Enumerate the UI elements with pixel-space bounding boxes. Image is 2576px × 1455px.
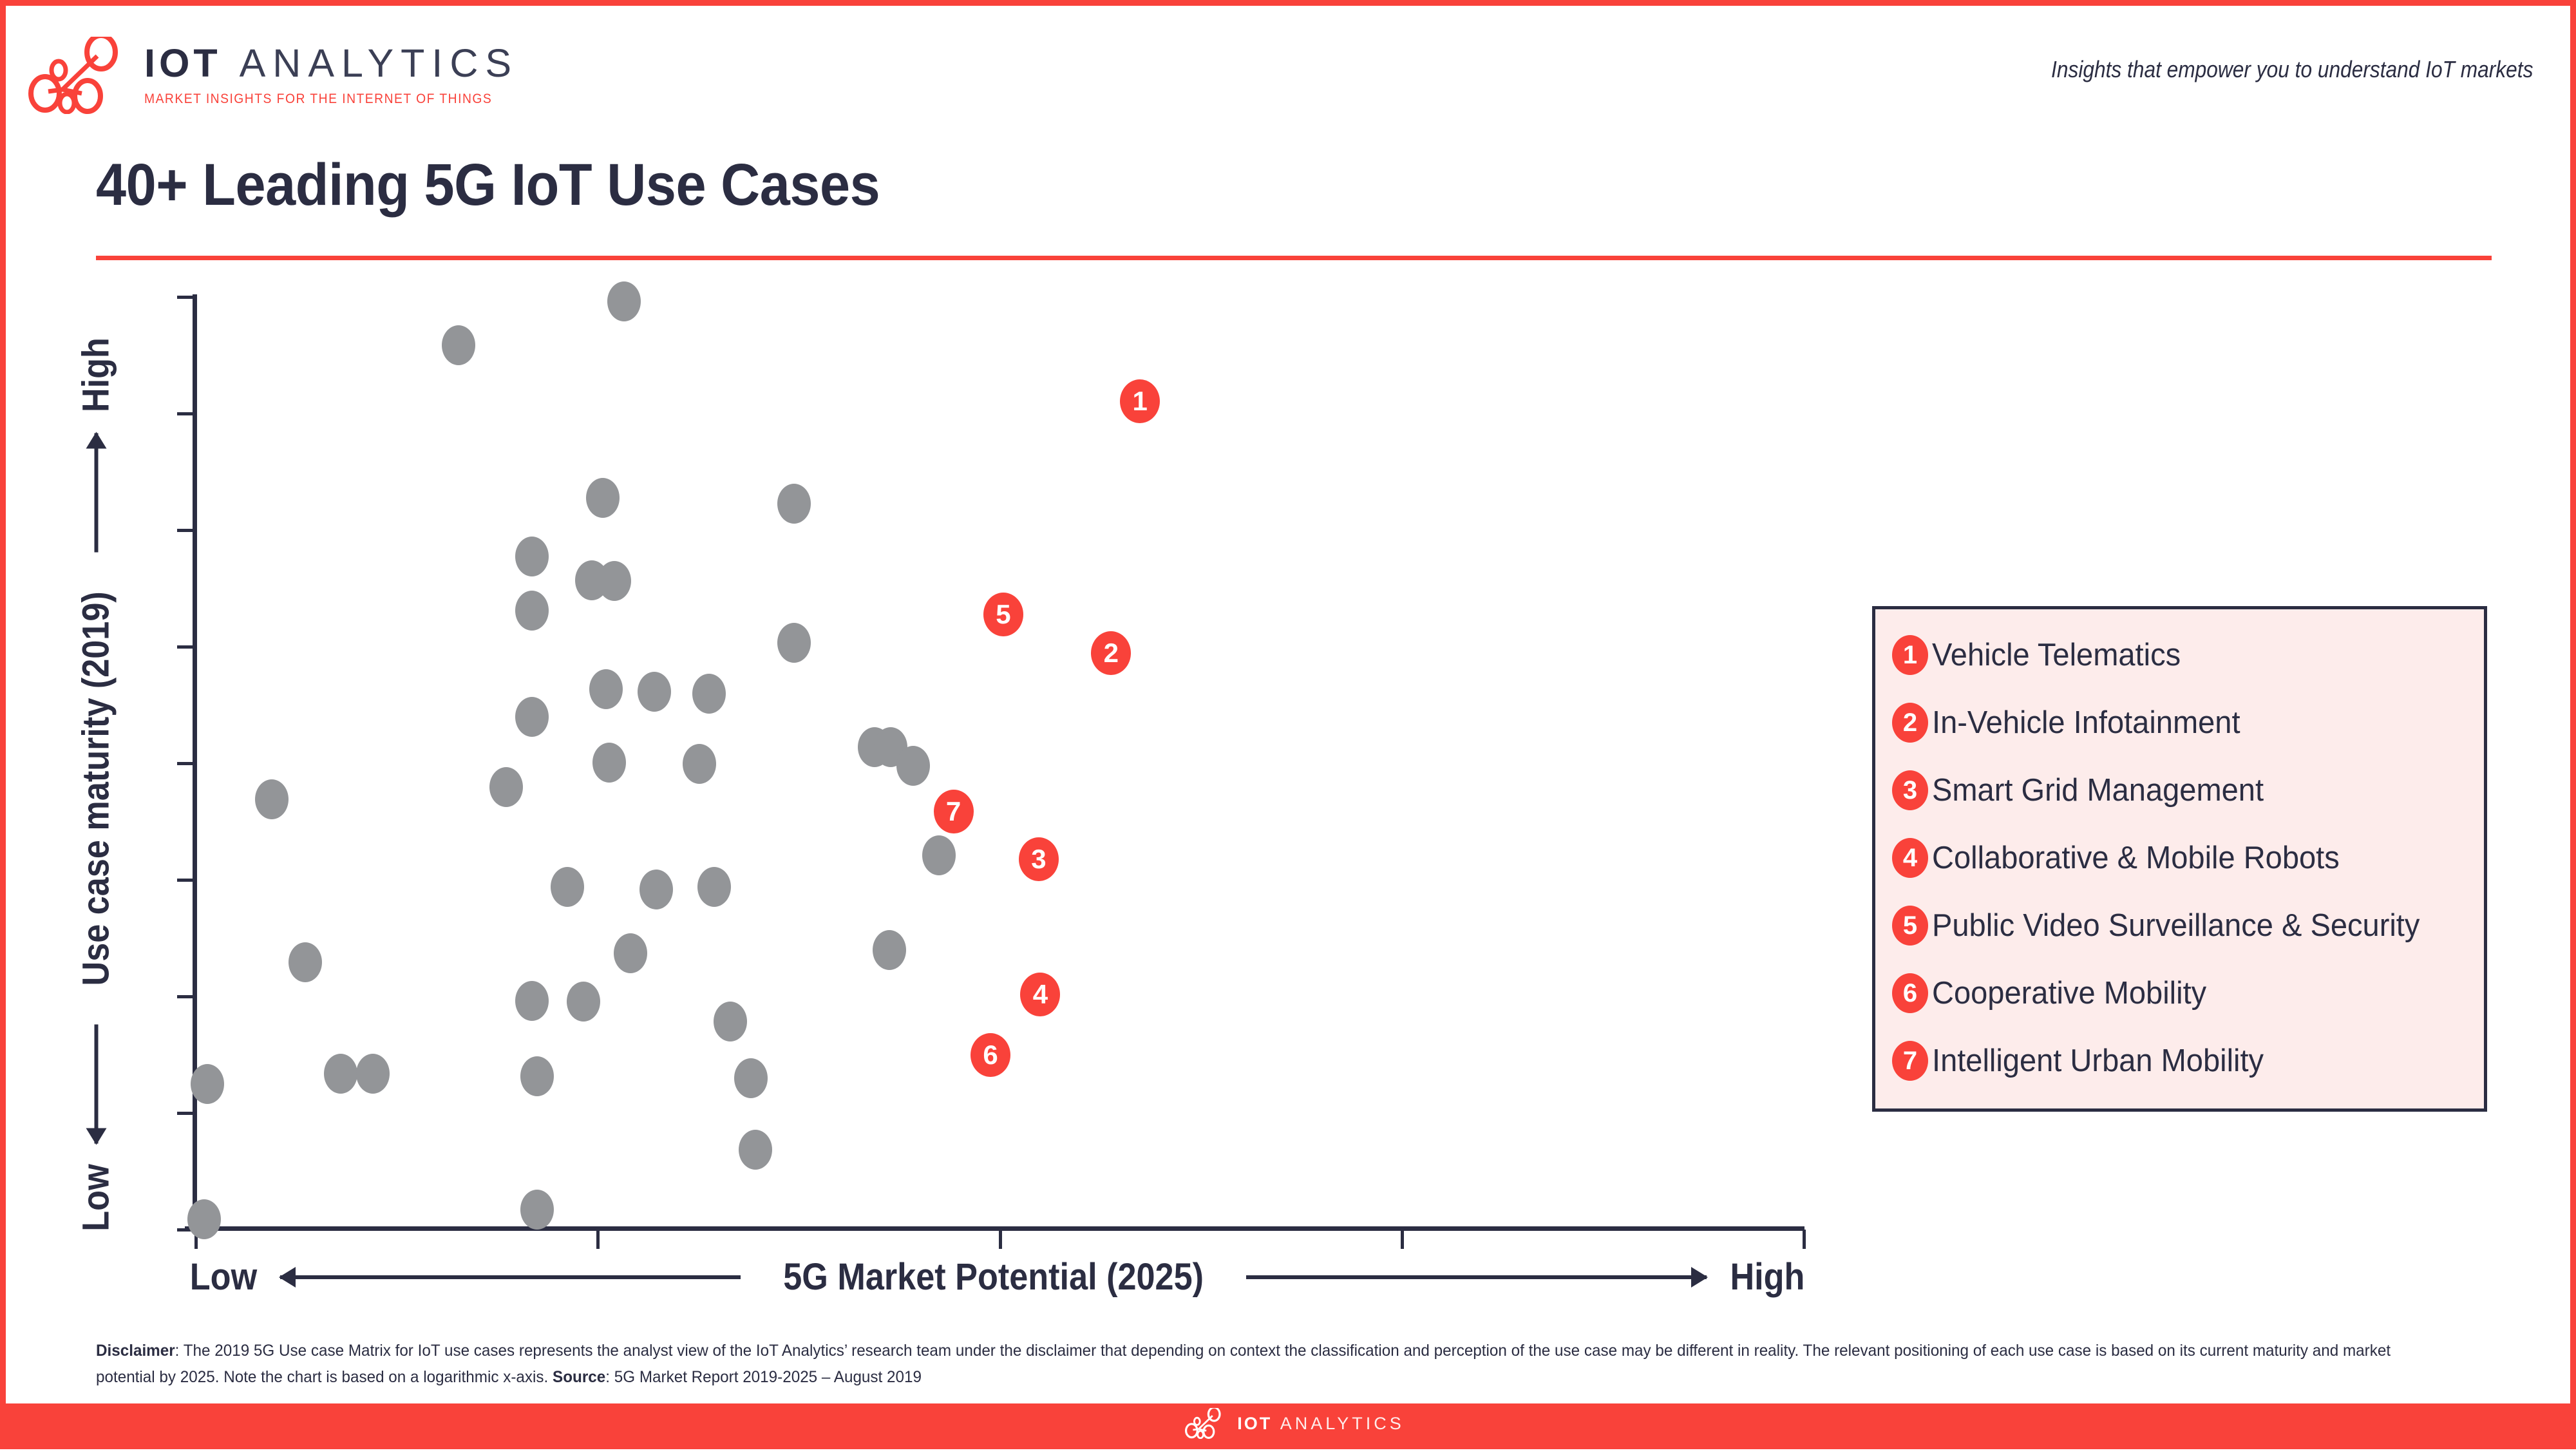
highlighted-marker-4[interactable]: 4 <box>1020 973 1060 1016</box>
scatter-point <box>515 981 549 1021</box>
scatter-point <box>638 672 671 712</box>
y-axis-high-label: High <box>75 338 118 412</box>
footer-brand: IOT ANALYTICS <box>1183 1408 1405 1439</box>
scatter-point <box>692 674 726 714</box>
y-axis-right-arrow-icon <box>94 433 98 552</box>
disclaimer: Disclaimer: The 2019 5G Use case Matrix … <box>96 1338 2420 1391</box>
scatter-point <box>874 727 907 767</box>
legend-item[interactable]: 1Vehicle Telematics <box>1892 621 2472 689</box>
legend-badge-2: 2 <box>1892 703 1928 743</box>
brand-name-bold: IOT <box>144 41 222 85</box>
brand-logo-block: IOT ANALYTICS MARKET INSIGHTS FOR THE IN… <box>25 37 522 114</box>
legend-item-label: Collaborative & Mobile Robots <box>1932 840 2340 876</box>
x-axis-tick <box>194 1230 198 1249</box>
legend-item-label: Public Video Surveillance & Security <box>1932 908 2420 944</box>
y-axis-tick <box>177 296 194 299</box>
header-tagline: Insights that empower you to understand … <box>2051 56 2533 83</box>
scatter-point <box>575 560 609 600</box>
legend-item[interactable]: 7Intelligent Urban Mobility <box>1892 1027 2472 1094</box>
scatter-point <box>356 1054 390 1094</box>
legend-item[interactable]: 2In-Vehicle Infotainment <box>1892 689 2472 756</box>
x-axis-low-label: Low <box>190 1255 257 1298</box>
y-axis-tick <box>177 879 194 882</box>
x-axis-tick <box>596 1230 600 1249</box>
highlighted-marker-1[interactable]: 1 <box>1120 379 1160 423</box>
x-axis-line <box>185 1226 1804 1231</box>
scatter-point <box>187 1199 221 1239</box>
legend-item-label: Intelligent Urban Mobility <box>1932 1043 2264 1079</box>
x-axis-right-arrow-icon <box>1246 1275 1707 1279</box>
disclaimer-label: Disclaimer <box>96 1342 175 1360</box>
scatter-point <box>515 537 549 576</box>
legend-badge-6: 6 <box>1892 973 1928 1013</box>
footer-name-light: ANALYTICS <box>1280 1414 1405 1433</box>
legend-item-label: In-Vehicle Infotainment <box>1932 705 2240 741</box>
brand-name-light: ANALYTICS <box>240 41 518 85</box>
y-axis-line <box>193 294 197 1232</box>
scatter-point <box>922 835 956 875</box>
scatter-point <box>489 767 523 807</box>
legend-item[interactable]: 4Collaborative & Mobile Robots <box>1892 824 2472 891</box>
y-axis-title: Use case maturity (2019) <box>75 591 118 985</box>
highlighted-marker-2[interactable]: 2 <box>1091 631 1131 675</box>
brand-name: IOT ANALYTICS <box>144 44 522 83</box>
footer-brand-name: IOT ANALYTICS <box>1237 1414 1405 1434</box>
footer-name-bold: IOT <box>1237 1414 1272 1433</box>
x-axis-title: 5G Market Potential (2025) <box>783 1255 1204 1298</box>
y-axis-left-arrow-icon <box>94 1024 98 1143</box>
scatter-point <box>586 478 620 518</box>
scatter-point <box>697 867 731 907</box>
x-axis-tick <box>1401 1230 1404 1249</box>
slide: IOT ANALYTICS MARKET INSIGHTS FOR THE IN… <box>0 0 2576 1449</box>
scatter-point <box>607 281 641 321</box>
scatter-point <box>896 746 930 786</box>
scatter-point <box>592 743 626 783</box>
scatter-point <box>873 930 906 970</box>
scatter-point <box>777 623 811 663</box>
scatter-point <box>598 561 631 601</box>
y-axis-tick <box>177 1228 194 1232</box>
scatter-point <box>255 779 289 819</box>
scatter-point <box>515 697 549 737</box>
legend-box: 1Vehicle Telematics2In-Vehicle Infotainm… <box>1872 606 2487 1112</box>
legend-item-label: Cooperative Mobility <box>1932 975 2206 1011</box>
title-divider <box>96 256 2492 260</box>
scatter-point <box>442 325 475 365</box>
footer-bar: IOT ANALYTICS <box>6 1403 2576 1443</box>
legend-badge-3: 3 <box>1892 770 1928 810</box>
source-body: : 5G Market Report 2019-2025 – August 20… <box>605 1368 922 1386</box>
x-axis-tick <box>1803 1230 1806 1249</box>
highlighted-marker-7[interactable]: 7 <box>934 790 974 833</box>
scatter-point <box>289 942 322 982</box>
x-axis-label: Low 5G Market Potential (2025) High <box>186 1255 1809 1298</box>
y-axis-tick <box>177 645 194 649</box>
legend-item[interactable]: 5Public Video Surveillance & Security <box>1892 891 2472 959</box>
y-axis-low-label: Low <box>75 1164 118 1231</box>
iot-network-logo-icon <box>1183 1408 1229 1439</box>
legend-item[interactable]: 3Smart Grid Management <box>1892 756 2472 824</box>
header: IOT ANALYTICS MARKET INSIGHTS FOR THE IN… <box>6 6 2570 135</box>
legend-badge-5: 5 <box>1892 906 1928 946</box>
legend-item[interactable]: 6Cooperative Mobility <box>1892 959 2472 1027</box>
scatter-point <box>324 1054 357 1094</box>
highlighted-marker-3[interactable]: 3 <box>1019 837 1059 881</box>
scatter-point <box>520 1056 554 1096</box>
y-axis-tick <box>177 1112 194 1115</box>
scatter-point <box>639 870 673 909</box>
x-axis-high-label: High <box>1730 1255 1805 1298</box>
x-axis-left-arrow-icon <box>280 1275 741 1279</box>
scatter-point <box>739 1130 772 1170</box>
legend-item-label: Smart Grid Management <box>1932 772 2264 808</box>
legend-badge-1: 1 <box>1892 635 1928 675</box>
scatter-point <box>520 1190 554 1230</box>
y-axis-tick <box>177 529 194 532</box>
x-axis-tick <box>999 1230 1002 1249</box>
legend-badge-7: 7 <box>1892 1041 1928 1081</box>
scatter-point <box>567 982 600 1022</box>
brand-subtitle: MARKET INSIGHTS FOR THE INTERNET OF THIN… <box>144 91 492 107</box>
scatter-point <box>515 591 549 631</box>
scatter-point <box>551 867 584 907</box>
scatter-point <box>191 1064 224 1104</box>
y-axis-tick <box>177 995 194 998</box>
scatter-point <box>589 669 623 709</box>
legend-badge-4: 4 <box>1892 838 1928 878</box>
highlighted-marker-6[interactable]: 6 <box>971 1033 1010 1077</box>
scatter-point <box>683 744 716 784</box>
y-axis-label: Low Use case maturity (2019) High <box>75 334 118 1235</box>
scatter-point <box>858 727 891 767</box>
scatter-point <box>614 933 647 973</box>
scatter-point <box>734 1058 768 1098</box>
scatter-point <box>777 484 811 524</box>
legend-item-label: Vehicle Telematics <box>1932 637 2181 673</box>
iot-network-logo-icon <box>25 37 138 114</box>
y-axis-tick <box>177 762 194 765</box>
scatter-point <box>714 1002 747 1041</box>
source-label: Source <box>553 1368 605 1386</box>
highlighted-marker-5[interactable]: 5 <box>983 593 1023 636</box>
y-axis-tick <box>177 412 194 415</box>
brand-text: IOT ANALYTICS MARKET INSIGHTS FOR THE IN… <box>144 44 522 107</box>
page-title: 40+ Leading 5G IoT Use Cases <box>96 155 880 214</box>
disclaimer-body: : The 2019 5G Use case Matrix for IoT us… <box>96 1342 2391 1386</box>
